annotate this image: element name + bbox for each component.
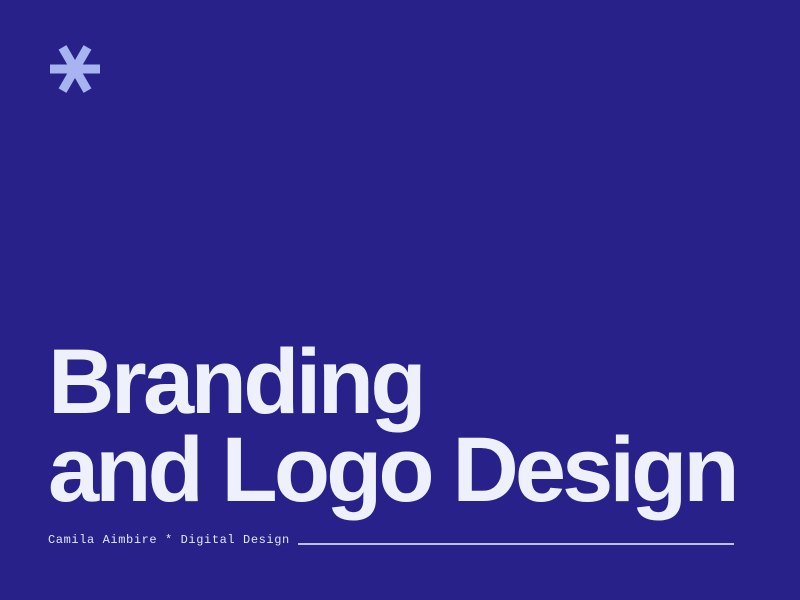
footer-divider-rule [298, 543, 734, 545]
asterisk-six-point-icon [48, 42, 102, 96]
footer-credit: Camila Aimbire * Digital Design [48, 534, 734, 547]
footer-credit-text: Camila Aimbire * Digital Design [48, 534, 290, 547]
title-slide: Branding and Logo Design Camila Aimbire … [0, 0, 800, 600]
page-title-line-2: and Logo Design [48, 426, 760, 514]
page-title-line-1: Branding [48, 338, 760, 426]
page-title: Branding and Logo Design [48, 338, 760, 515]
